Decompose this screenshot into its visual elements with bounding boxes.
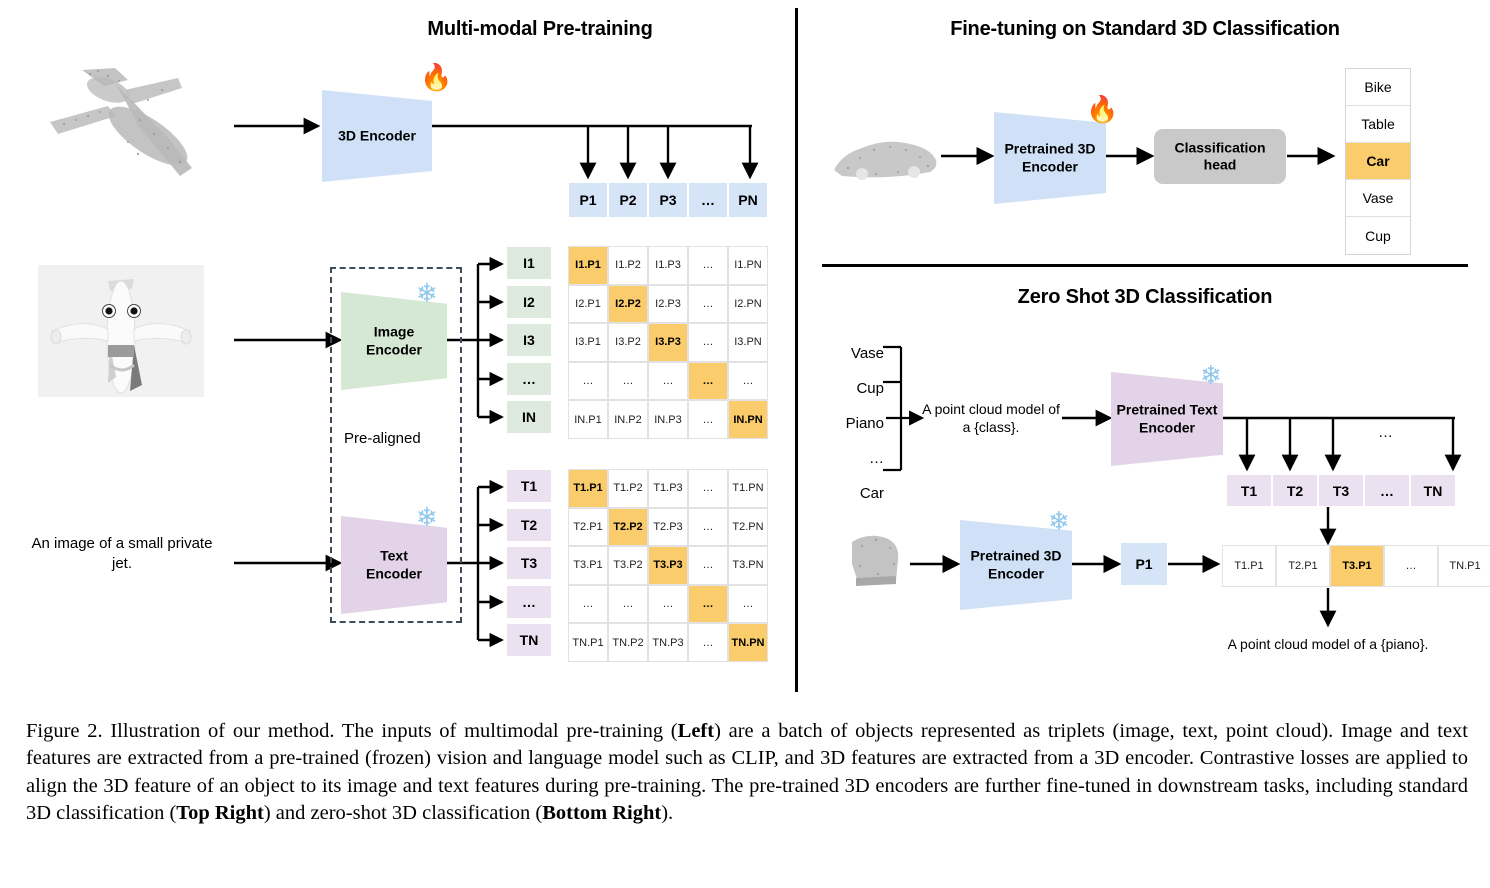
image-token-2: I3 bbox=[506, 323, 552, 357]
prealigned-label: Pre-aligned bbox=[344, 430, 421, 447]
text-point-similarity-matrix: T1.P1T1.P2T1.P3…T1.PNT2.P1T2.P2T2.P3…T2.… bbox=[568, 469, 768, 662]
class-option-vase[interactable]: Vase bbox=[1346, 180, 1410, 217]
class-option-cup[interactable]: Cup bbox=[1346, 217, 1410, 254]
zs-text-token-0: T1 bbox=[1226, 474, 1272, 507]
image-matrix-cell-r1-c1: I2.P2 bbox=[608, 285, 648, 324]
class-option-car[interactable]: Car bbox=[1346, 143, 1410, 180]
caption-bold-bottom-right: Bottom Right bbox=[542, 802, 661, 824]
image-matrix-cell-r3-c1: … bbox=[608, 362, 648, 401]
caption-bold-top-right: Top Right bbox=[176, 802, 264, 824]
text-matrix-cell-r4-c1: TN.P2 bbox=[608, 623, 648, 662]
zero-shot-class-list: VaseCupPiano…Car bbox=[820, 336, 884, 511]
zs-text-token-4: TN bbox=[1410, 474, 1456, 507]
zs-text-token-1: T2 bbox=[1272, 474, 1318, 507]
image-matrix-cell-r2-c1: I3.P2 bbox=[608, 323, 648, 362]
piano-point-cloud bbox=[838, 528, 912, 590]
text-matrix-cell-r4-c3: … bbox=[688, 623, 728, 662]
text-matrix-cell-r4-c4: TN.PN bbox=[728, 623, 768, 662]
pc-token-2: P3 bbox=[648, 182, 688, 218]
snowflake-icon-text-encoder: ❄ bbox=[416, 504, 438, 530]
classification-result-list[interactable]: BikeTableCarVaseCup bbox=[1345, 68, 1411, 255]
text-token-4: TN bbox=[506, 623, 552, 657]
panel-title-top-right: Fine-tuning on Standard 3D Classificatio… bbox=[830, 18, 1460, 41]
caption-seg-1: Figure 2. Illustration of our method. Th… bbox=[26, 720, 678, 742]
image-matrix-cell-r4-c4: IN.PN bbox=[728, 400, 768, 439]
text-token-1: T2 bbox=[506, 508, 552, 542]
image-token-0: I1 bbox=[506, 246, 552, 280]
image-matrix-cell-r3-c0: … bbox=[568, 362, 608, 401]
image-matrix-cell-r3-c4: … bbox=[728, 362, 768, 401]
snowflake-icon-3d-encoder-zs: ❄ bbox=[1048, 508, 1070, 534]
text-matrix-cell-r0-c0: T1.P1 bbox=[568, 469, 608, 508]
zs-sim-cell-4: TN.P1 bbox=[1438, 545, 1490, 587]
text-matrix-cell-r1-c0: T2.P1 bbox=[568, 508, 608, 547]
image-matrix-cell-r1-c3: … bbox=[688, 285, 728, 324]
text-token-3: … bbox=[506, 585, 552, 619]
class-option-table[interactable]: Table bbox=[1346, 106, 1410, 143]
pc-token-3: … bbox=[688, 182, 728, 218]
text-matrix-cell-r3-c0: … bbox=[568, 585, 608, 624]
snowflake-icon-image-encoder: ❄ bbox=[416, 280, 438, 306]
flame-icon-finetune: 🔥 bbox=[1086, 96, 1118, 122]
image-matrix-cell-r0-c3: … bbox=[688, 246, 728, 285]
point-cloud-token-row: P1P2P3…PN bbox=[568, 182, 768, 218]
panel-divider-vertical bbox=[795, 8, 798, 692]
flame-icon: 🔥 bbox=[420, 64, 452, 90]
zs-text-token-2: T3 bbox=[1318, 474, 1364, 507]
image-matrix-cell-r0-c0: I1.P1 bbox=[568, 246, 608, 285]
pc-token-1: P2 bbox=[608, 182, 648, 218]
text-matrix-cell-r3-c1: … bbox=[608, 585, 648, 624]
zs-sim-cell-3: … bbox=[1384, 545, 1438, 587]
text-matrix-cell-r2-c1: T3.P2 bbox=[608, 546, 648, 585]
classification-head[interactable]: Classification head bbox=[1154, 129, 1286, 184]
prompt-template: A point cloud model of a {class}. bbox=[915, 400, 1067, 436]
zero-shot-similarity-row: T1.P1T2.P1T3.P1…TN.P1 bbox=[1222, 545, 1490, 587]
text-matrix-cell-r3-c2: … bbox=[648, 585, 688, 624]
image-matrix-cell-r1-c0: I2.P1 bbox=[568, 285, 608, 324]
panel-divider-horizontal bbox=[822, 264, 1468, 267]
zero-shot-result-text: A point cloud model of a {piano}. bbox=[1160, 636, 1490, 652]
caption-seg-3: ) and zero-shot 3D classification ( bbox=[264, 802, 542, 824]
class-option-bike[interactable]: Bike bbox=[1346, 69, 1410, 106]
zs-sim-cell-2: T3.P1 bbox=[1330, 545, 1384, 587]
zs-sim-cell-0: T1.P1 bbox=[1222, 545, 1276, 587]
zs-sim-cell-1: T2.P1 bbox=[1276, 545, 1330, 587]
figure-caption: Figure 2. Illustration of our method. Th… bbox=[26, 718, 1468, 828]
zero-shot-text-token-row: T1T2T3…TN bbox=[1226, 474, 1456, 507]
image-matrix-cell-r2-c4: I3.PN bbox=[728, 323, 768, 362]
image-point-similarity-matrix: I1.P1I1.P2I1.P3…I1.PNI2.P1I2.P2I2.P3…I2.… bbox=[568, 246, 768, 439]
image-matrix-cell-r4-c1: IN.P2 bbox=[608, 400, 648, 439]
image-matrix-cell-r2-c0: I3.P1 bbox=[568, 323, 608, 362]
image-matrix-cell-r4-c0: IN.P1 bbox=[568, 400, 608, 439]
text-matrix-cell-r2-c2: T3.P3 bbox=[648, 546, 688, 585]
image-matrix-cell-r0-c2: I1.P3 bbox=[648, 246, 688, 285]
text-matrix-cell-r0-c3: … bbox=[688, 469, 728, 508]
image-matrix-cell-r0-c1: I1.P2 bbox=[608, 246, 648, 285]
pretrained-3d-encoder-finetune[interactable]: Pretrained 3D Encoder bbox=[994, 112, 1106, 204]
text-matrix-cell-r3-c3: … bbox=[688, 585, 728, 624]
image-matrix-cell-r1-c4: I2.PN bbox=[728, 285, 768, 324]
zero-shot-class-2: Piano bbox=[820, 406, 884, 441]
text-matrix-cell-r1-c1: T2.P2 bbox=[608, 508, 648, 547]
image-token-column: I1I2I3…IN bbox=[506, 246, 552, 439]
zero-shot-class-4: Car bbox=[820, 476, 884, 511]
text-matrix-cell-r2-c3: … bbox=[688, 546, 728, 585]
text-matrix-cell-r3-c4: … bbox=[728, 585, 768, 624]
text-matrix-cell-r1-c4: T2.PN bbox=[728, 508, 768, 547]
airplane-rendered-image bbox=[38, 265, 204, 397]
text-matrix-cell-r0-c2: T1.P3 bbox=[648, 469, 688, 508]
token-ellipsis: … bbox=[1378, 424, 1393, 441]
text-token-column: T1T2T3…TN bbox=[506, 469, 552, 662]
text-matrix-cell-r0-c1: T1.P2 bbox=[608, 469, 648, 508]
encoder-3d[interactable]: 3D Encoder bbox=[322, 90, 432, 182]
text-matrix-cell-r2-c4: T3.PN bbox=[728, 546, 768, 585]
text-matrix-cell-r2-c0: T3.P1 bbox=[568, 546, 608, 585]
zs-text-token-3: … bbox=[1364, 474, 1410, 507]
image-token-4: IN bbox=[506, 400, 552, 434]
text-matrix-cell-r1-c2: T2.P3 bbox=[648, 508, 688, 547]
text-matrix-cell-r4-c0: TN.P1 bbox=[568, 623, 608, 662]
classification-head-label: Classification head bbox=[1154, 139, 1286, 174]
pc-token-0: P1 bbox=[568, 182, 608, 218]
image-matrix-cell-r2-c2: I3.P3 bbox=[648, 323, 688, 362]
image-token-3: … bbox=[506, 362, 552, 396]
input-text-caption: An image of a small private jet. bbox=[22, 534, 222, 573]
text-matrix-cell-r0-c4: T1.PN bbox=[728, 469, 768, 508]
zero-shot-class-3: … bbox=[820, 441, 884, 476]
snowflake-icon-text-encoder-zs: ❄ bbox=[1200, 362, 1222, 388]
panel-title-bottom-right: Zero Shot 3D Classification bbox=[830, 286, 1460, 309]
zero-shot-class-0: Vase bbox=[820, 336, 884, 371]
image-token-1: I2 bbox=[506, 285, 552, 319]
image-matrix-cell-r1-c2: I2.P3 bbox=[648, 285, 688, 324]
point-cloud-feature-p1: P1 bbox=[1121, 543, 1167, 585]
zero-shot-class-1: Cup bbox=[820, 371, 884, 406]
image-matrix-cell-r3-c3: … bbox=[688, 362, 728, 401]
image-matrix-cell-r4-c2: IN.P3 bbox=[648, 400, 688, 439]
text-matrix-cell-r1-c3: … bbox=[688, 508, 728, 547]
image-matrix-cell-r3-c2: … bbox=[648, 362, 688, 401]
text-matrix-cell-r4-c2: TN.P3 bbox=[648, 623, 688, 662]
image-matrix-cell-r4-c3: … bbox=[688, 400, 728, 439]
pc-token-4: PN bbox=[728, 182, 768, 218]
text-token-0: T1 bbox=[506, 469, 552, 503]
caption-seg-4: ). bbox=[661, 802, 673, 824]
airplane-point-cloud bbox=[20, 50, 235, 195]
figure-canvas: Multi-modal Pre-training bbox=[0, 0, 1490, 700]
caption-bold-left: Left bbox=[678, 720, 714, 742]
image-matrix-cell-r2-c3: … bbox=[688, 323, 728, 362]
car-point-cloud bbox=[828, 130, 943, 188]
image-matrix-cell-r0-c4: I1.PN bbox=[728, 246, 768, 285]
text-token-2: T3 bbox=[506, 546, 552, 580]
panel-title-left: Multi-modal Pre-training bbox=[280, 18, 800, 41]
